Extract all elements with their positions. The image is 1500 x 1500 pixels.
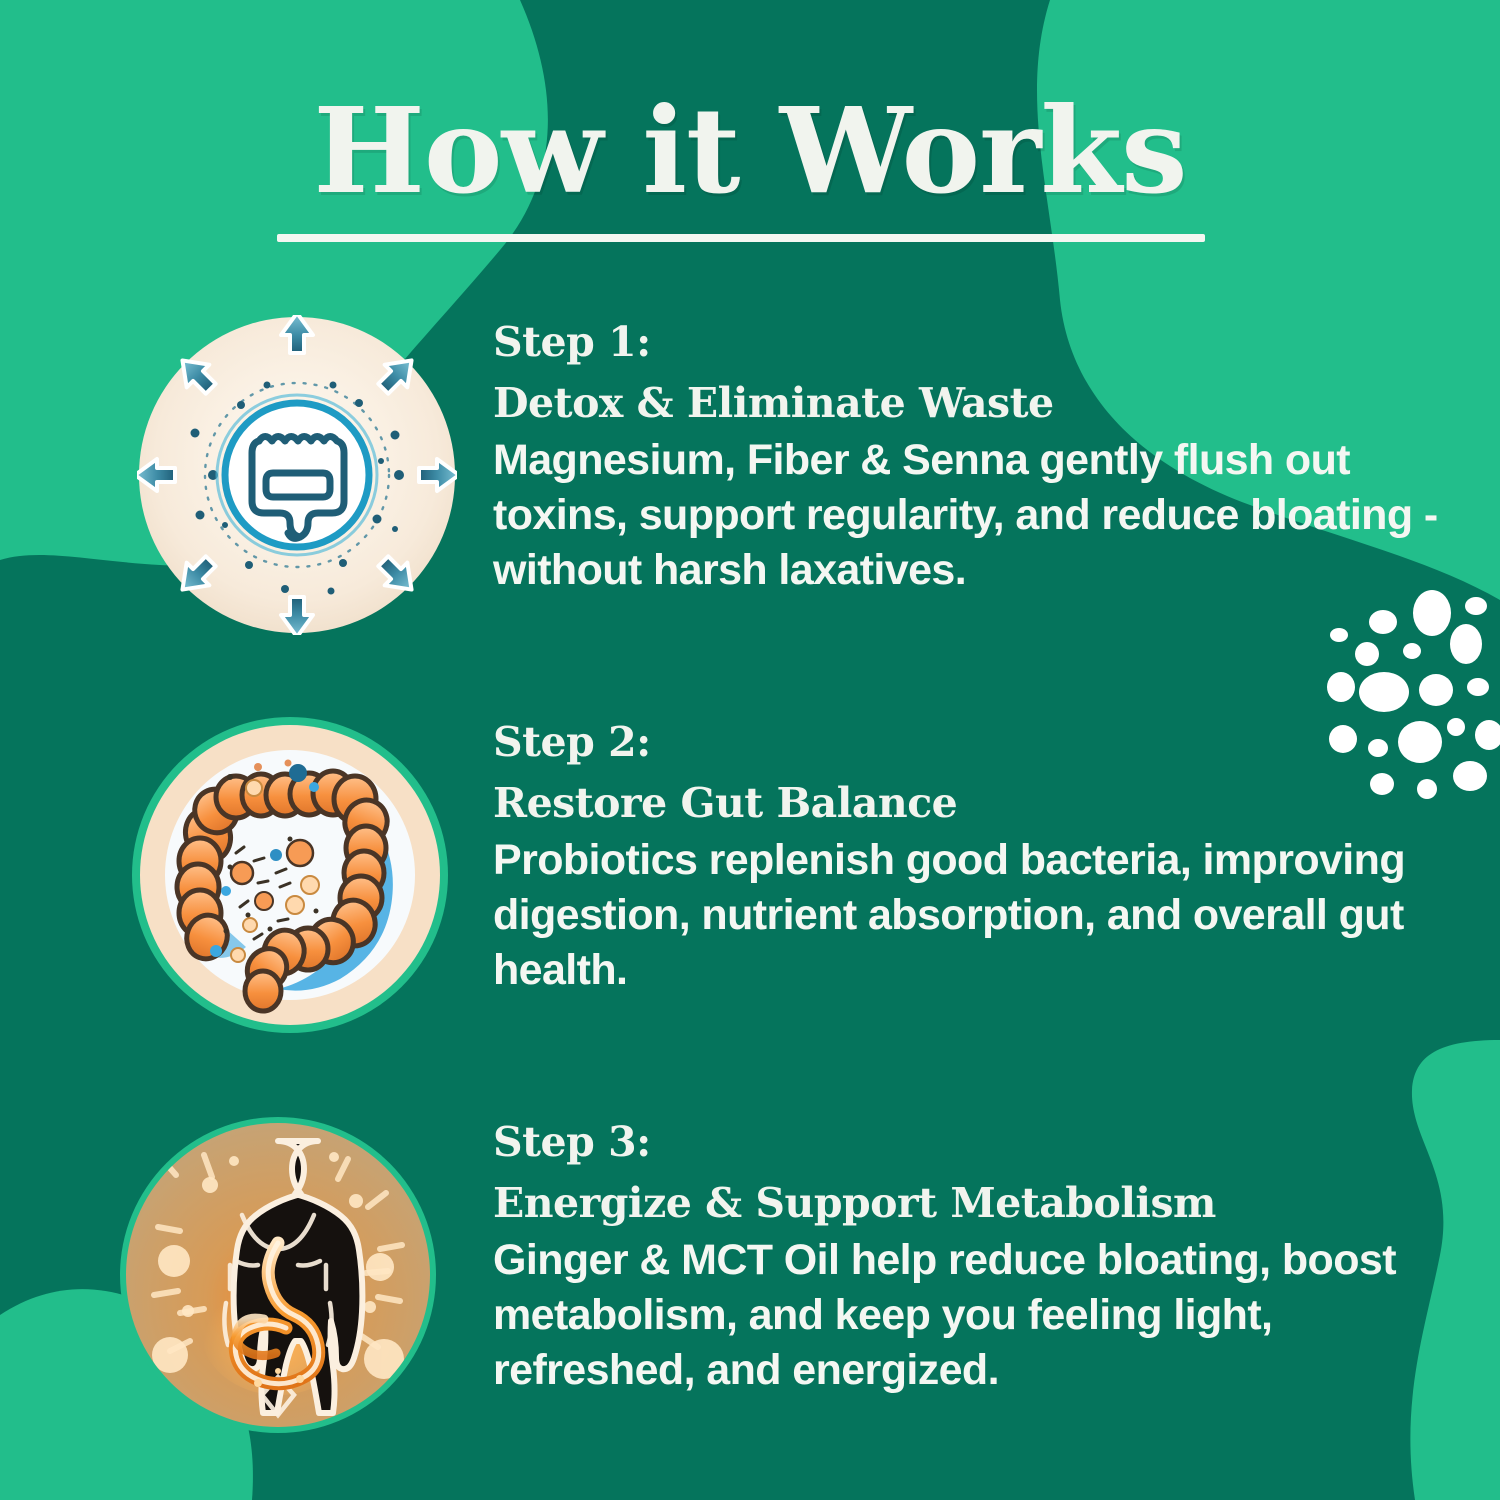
detox-radiating-arrows-intestine-icon	[137, 315, 457, 635]
step-body: Probiotics replenish good bacteria, impr…	[493, 833, 1458, 998]
header: How it Works	[0, 92, 1500, 210]
step-row: Step 3: Energize & Support Metabolism Gi…	[0, 1105, 1500, 1500]
step-body: Magnesium, Fiber & Senna gently flush ou…	[493, 433, 1458, 598]
step-body: Ginger & MCT Oil help reduce bloating, b…	[493, 1233, 1458, 1398]
steps-list: Step 1: Detox & Eliminate Waste Magnesiu…	[0, 305, 1500, 1500]
title-underline	[277, 234, 1205, 242]
step-label: Step 1:	[493, 319, 1458, 367]
body-metabolism-glow-icon	[118, 1115, 438, 1435]
step-label: Step 2:	[493, 719, 1458, 767]
colon-probiotics-icon	[130, 715, 450, 1035]
step-text-block: Step 3: Energize & Support Metabolism Gi…	[493, 1119, 1458, 1398]
infographic-canvas: How it Works	[0, 0, 1500, 1500]
page-title: How it Works	[0, 92, 1500, 210]
step-text-block: Step 2: Restore Gut Balance Probiotics r…	[493, 719, 1458, 998]
step-heading: Restore Gut Balance	[493, 777, 1458, 830]
step-heading: Detox & Eliminate Waste	[493, 377, 1458, 430]
step-heading: Energize & Support Metabolism	[493, 1177, 1458, 1230]
step-text-block: Step 1: Detox & Eliminate Waste Magnesiu…	[493, 319, 1458, 598]
step-row: Step 1: Detox & Eliminate Waste Magnesiu…	[0, 305, 1500, 705]
step-row: Step 2: Restore Gut Balance Probiotics r…	[0, 705, 1500, 1105]
step-label: Step 3:	[493, 1119, 1458, 1167]
